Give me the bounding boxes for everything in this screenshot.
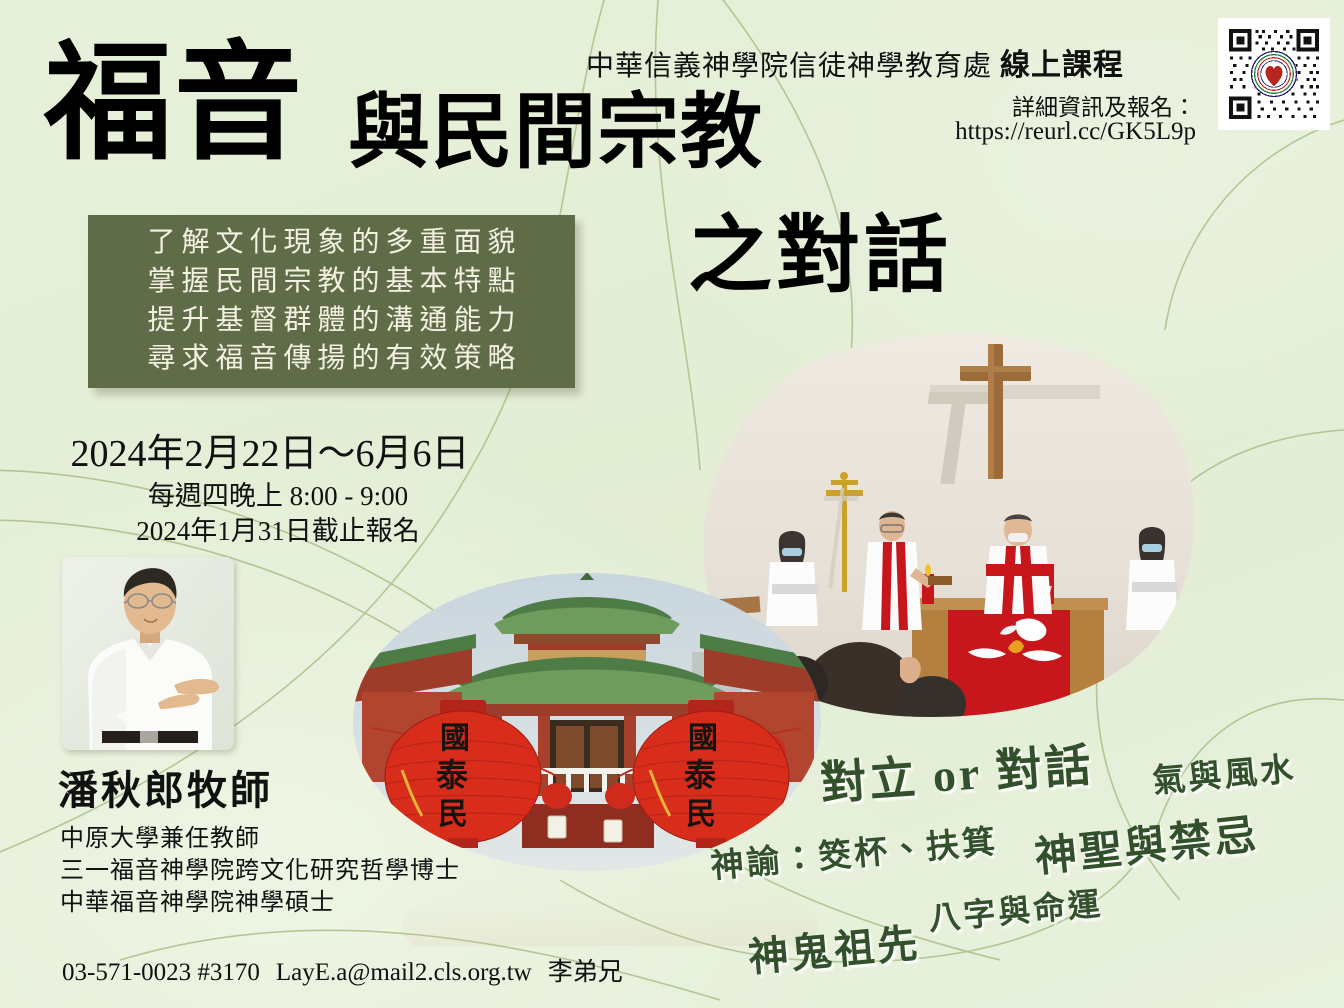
schedule-dates: 2024年2月22日～6月6日 [0, 422, 540, 477]
speaker-credential: 中原大學兼任教師 [60, 818, 260, 853]
speaker-credential: 中華福音神學院神學碩士 [60, 882, 335, 917]
page-subtitle-2: 之對話 [688, 215, 952, 299]
svg-text:國: 國 [440, 722, 470, 755]
objectives-box: 了解文化現象的多重面貌 掌握民間宗教的基本特點 提升基督群體的溝通能力 尋求福音… [88, 215, 575, 388]
course-type-label: 線上課程 [1000, 49, 1124, 82]
keyword-opposition-or-dialogue: 對立 or 對話 [818, 729, 1096, 814]
objective-item: 了解文化現象的多重面貌 [141, 224, 521, 263]
keyword-sacred-and-taboo: 神聖與禁忌 [1031, 800, 1261, 884]
signup-label: 詳細資訊及報名： [1012, 88, 1196, 122]
speaker-portrait-photo [62, 557, 234, 750]
keyword-bazi-and-destiny: 八字與命運 [926, 878, 1104, 939]
organization-name: 中華信義神學院信徒神學教育處 [586, 51, 992, 82]
keyword-gods-ghosts-ancestors: 神鬼祖先 [746, 911, 922, 984]
signup-url[interactable]: https://reurl.cc/GK5L9p [955, 118, 1196, 146]
qr-code-icon[interactable] [1218, 18, 1330, 130]
page-title: 福音 [44, 40, 304, 168]
objective-item: 尋求福音傳揚的有效策略 [141, 340, 521, 379]
svg-text:國: 國 [688, 722, 718, 755]
footer-contact: 03-571-0023 #3170LayE.a@mail2.cls.org.tw… [62, 952, 623, 988]
page-subtitle-1: 與民間宗教 [348, 92, 763, 174]
contact-email[interactable]: LayE.a@mail2.cls.org.tw [276, 959, 532, 986]
contact-phone: 03-571-0023 #3170 [62, 959, 260, 986]
temple-red-lanterns-photo: 國 泰 民 [352, 572, 822, 872]
svg-text:民: 民 [438, 798, 468, 831]
speaker-name: 潘秋郎牧師 [58, 758, 273, 816]
objective-item: 提升基督群體的溝通能力 [141, 302, 521, 341]
speaker-credential: 三一福音神學院跨文化研究哲學博士 [60, 850, 460, 885]
schedule-deadline: 2024年1月31日截止報名 [0, 509, 556, 548]
schedule-weekly-time: 每週四晚上 8:00 - 9:00 [0, 474, 556, 513]
svg-text:泰: 泰 [684, 757, 717, 793]
organization-line: 中華信義神學院信徒神學教育處線上課程 [586, 40, 1124, 84]
contact-person: 李弟兄 [548, 959, 623, 986]
svg-text:泰: 泰 [436, 757, 469, 793]
objective-item: 掌握民間宗教的基本特點 [141, 263, 521, 302]
poster-canvas: 中華信義神學院信徒神學教育處線上課程 詳細資訊及報名： https://reur… [0, 0, 1344, 1008]
svg-text:民: 民 [686, 798, 716, 831]
keyword-qi-and-fengshui: 氣與風水 [1150, 742, 1298, 802]
